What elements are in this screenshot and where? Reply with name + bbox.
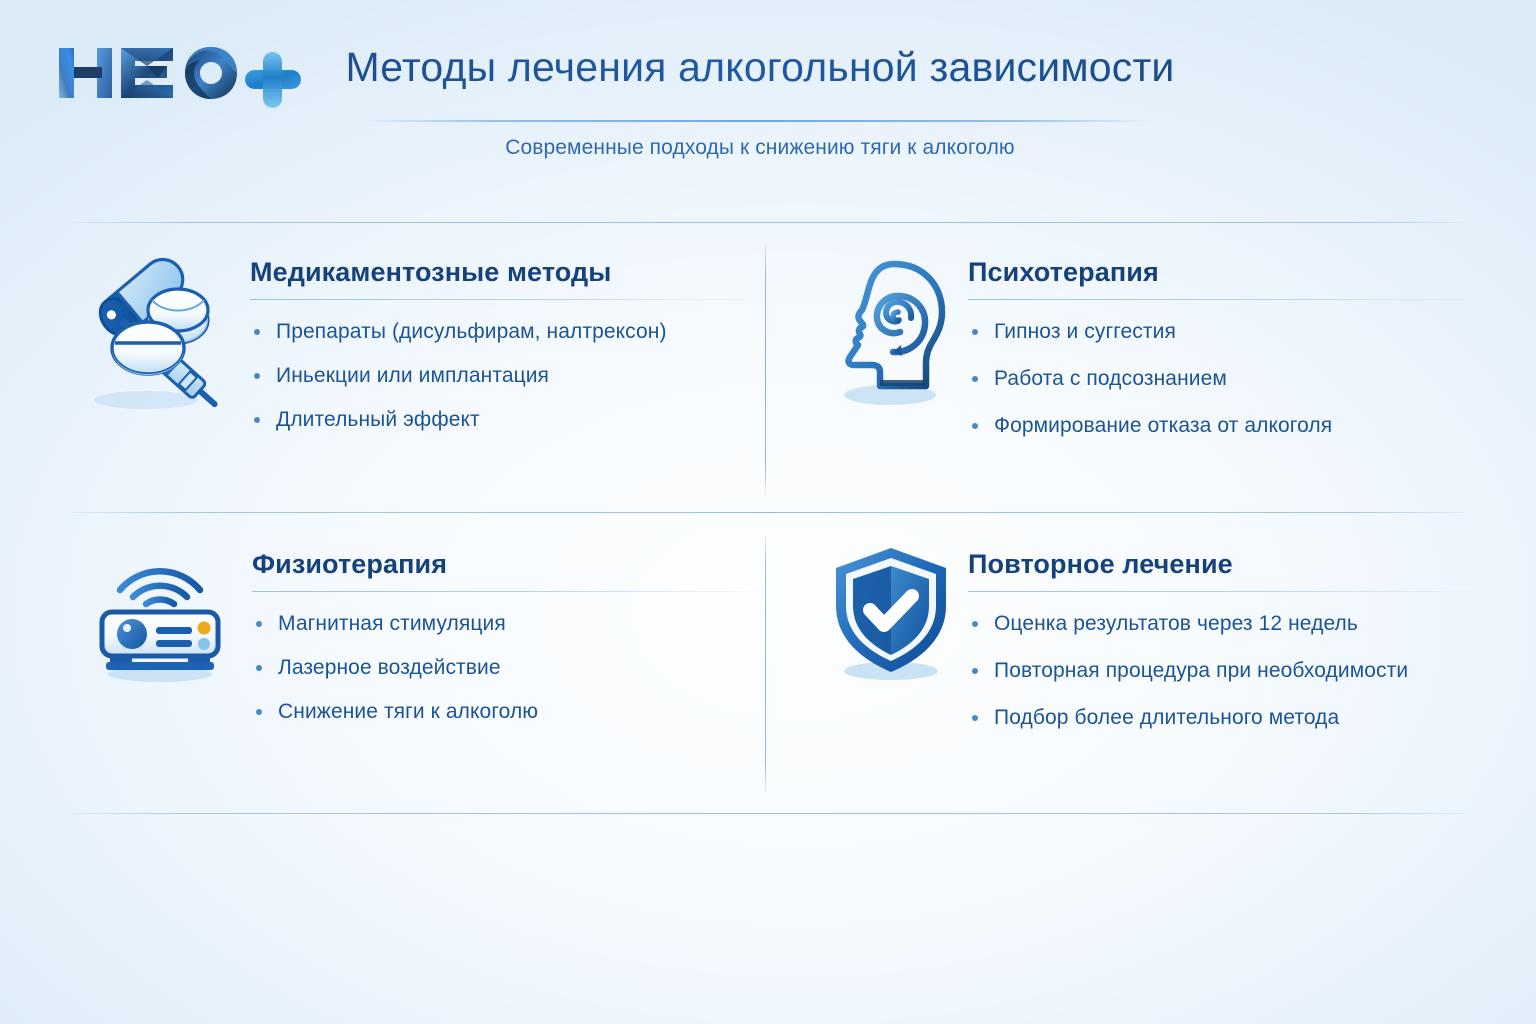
list-item: Иньекции или имплантация — [250, 364, 754, 388]
list-item: Оценка результатов через 12 недель — [968, 612, 1478, 636]
heading-divider — [252, 591, 756, 592]
list-item: Гипноз и суггестия — [968, 320, 1478, 344]
list-item: Магнитная стимуляция — [252, 612, 756, 636]
page-title: Методы лечения алкогольной зависимости — [300, 44, 1220, 91]
card-content: Психотерапия Гипноз и суггестия Работа с… — [968, 258, 1478, 461]
pills-syringe-icon — [78, 248, 238, 418]
logo-letter-o — [185, 47, 237, 99]
bullet-list: Оценка результатов через 12 недель Повто… — [968, 612, 1478, 730]
card-heading: Физиотерапия — [252, 550, 756, 580]
title-divider — [358, 120, 1153, 122]
list-item: Препараты (дисульфирам, налтрексон) — [250, 320, 754, 344]
heading-divider — [968, 591, 1478, 592]
list-item: Лазерное воздействие — [252, 656, 756, 680]
infographic-canvas: Методы лечения алкогольной зависимости С… — [0, 0, 1536, 1024]
page-subtitle: Современные подходы к снижению тяги к ал… — [300, 136, 1220, 160]
card-heading: Медикаментозные методы — [250, 258, 754, 288]
section-divider-bottom — [70, 813, 1466, 814]
list-item: Подбор более длительного метода — [968, 706, 1478, 730]
section-divider-top — [70, 222, 1466, 223]
list-item: Снижение тяги к алкоголю — [252, 700, 756, 724]
logo-letter-e — [121, 48, 173, 98]
bullet-list: Гипноз и суггестия Работа с подсознанием… — [968, 320, 1478, 438]
shield-check-icon — [818, 540, 978, 690]
therapy-device-icon — [80, 540, 240, 690]
head-spiral-icon — [818, 248, 978, 418]
section-divider-middle — [70, 512, 1466, 513]
bullet-list: Магнитная стимуляция Лазерное воздействи… — [252, 612, 756, 724]
brand-logo — [55, 36, 285, 108]
heading-divider — [250, 299, 754, 300]
list-item: Работа с подсознанием — [968, 367, 1478, 391]
card-content: Медикаментозные методы Препараты (дисуль… — [250, 258, 754, 452]
column-divider-upper — [765, 243, 766, 495]
heading-divider — [968, 299, 1478, 300]
card-heading: Психотерапия — [968, 258, 1478, 288]
logo-plus-icon — [245, 52, 301, 108]
card-heading: Повторное лечение — [968, 550, 1478, 580]
list-item: Формирование отказа от алкоголя — [968, 414, 1478, 438]
bullet-list: Препараты (дисульфирам, налтрексон) Инье… — [250, 320, 754, 432]
card-content: Физиотерапия Магнитная стимуляция Лазерн… — [252, 550, 756, 744]
list-item: Повторная процедура при необходимости — [968, 659, 1478, 683]
card-content: Повторное лечение Оценка результатов чер… — [968, 550, 1478, 753]
list-item: Длительный эффект — [250, 408, 754, 432]
column-divider-lower — [765, 535, 766, 793]
logo-letter-n — [59, 48, 112, 98]
